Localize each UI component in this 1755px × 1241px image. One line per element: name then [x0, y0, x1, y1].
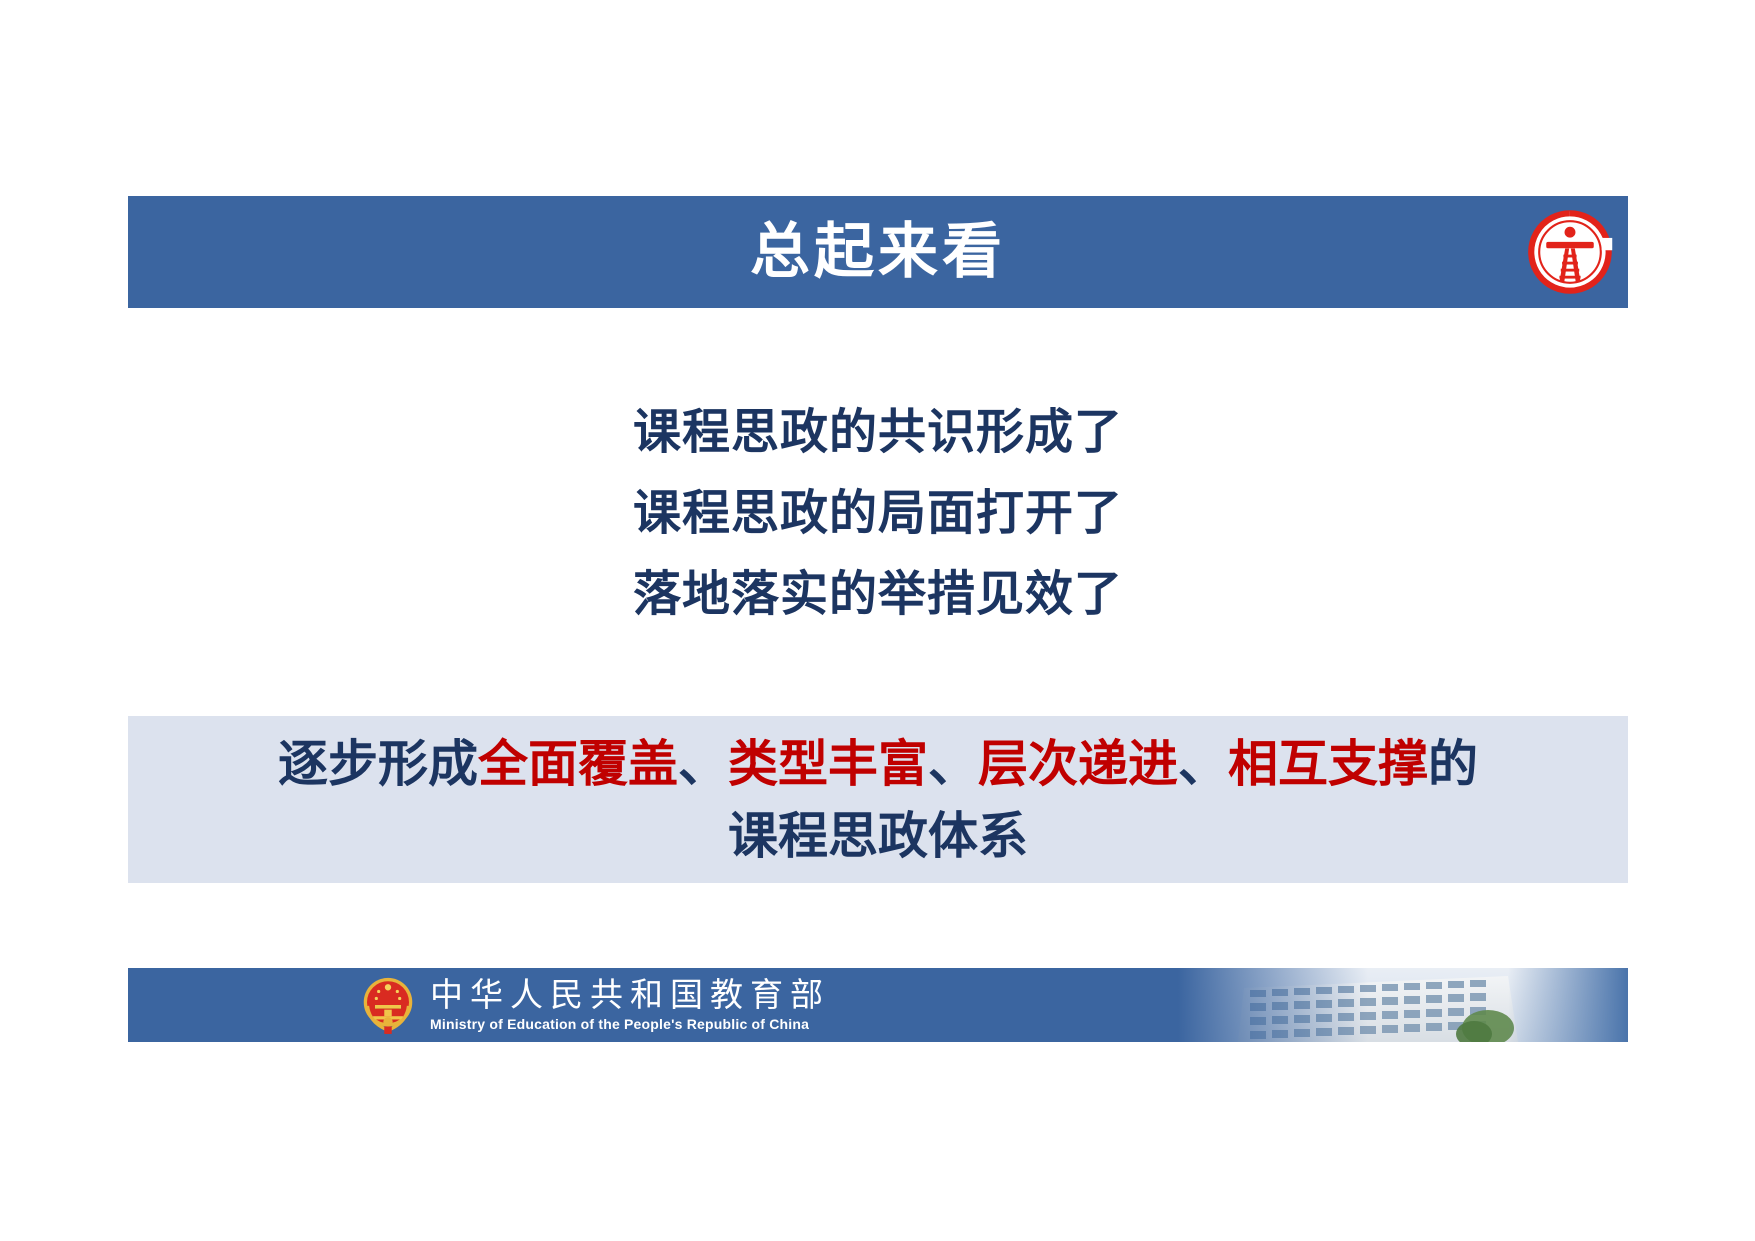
slide-header-bar: 总起来看	[128, 196, 1628, 308]
ministry-brand: 中华人民共和国教育部 Ministry of Education of the …	[360, 968, 830, 1042]
highlight-line-1: 逐步形成全面覆盖、类型丰富、层次递进、相互支撑的	[278, 728, 1478, 800]
highlight-line-2: 课程思政体系	[728, 800, 1028, 872]
ministry-building-photo	[1178, 968, 1628, 1042]
highlight-callout-box: 逐步形成全面覆盖、类型丰富、层次递进、相互支撑的 课程思政体系	[128, 716, 1628, 883]
ministry-name-en: Ministry of Education of the People's Re…	[430, 1015, 830, 1033]
body-text-block: 课程思政的共识形成了 课程思政的局面打开了 落地落实的举措见效了	[128, 392, 1628, 635]
highlight-seg-6: 层次递进	[978, 736, 1178, 792]
highlight-seg-8: 相互支撑	[1228, 736, 1428, 792]
body-line-3: 落地落实的举措见效了	[128, 554, 1628, 635]
page-title: 总起来看	[750, 222, 1006, 282]
body-line-2: 课程思政的局面打开了	[128, 473, 1628, 554]
highlight-seg-1: 逐步形成	[278, 736, 478, 792]
ministry-name-cn: 中华人民共和国教育部	[430, 977, 830, 1015]
photo-fade-right	[1508, 968, 1628, 1042]
highlight-seg-5: 、	[928, 736, 978, 792]
slide-canvas: 总起来看	[0, 0, 1755, 1241]
national-emblem-icon	[360, 974, 416, 1036]
highlight-seg-4: 类型丰富	[728, 736, 928, 792]
highlight-seg-9: 的	[1428, 736, 1478, 792]
highlight-seg-10: 课程思政体系	[728, 808, 1028, 864]
slide-footer-bar: 中华人民共和国教育部 Ministry of Education of the …	[128, 968, 1628, 1042]
highlight-seg-7: 、	[1178, 736, 1228, 792]
highlight-seg-2: 全面覆盖	[478, 736, 678, 792]
photo-fade-left	[1178, 968, 1368, 1042]
tongji-university-logo-icon	[1526, 208, 1614, 296]
body-line-1: 课程思政的共识形成了	[128, 392, 1628, 473]
ministry-text-block: 中华人民共和国教育部 Ministry of Education of the …	[430, 977, 830, 1033]
highlight-seg-3: 、	[678, 736, 728, 792]
